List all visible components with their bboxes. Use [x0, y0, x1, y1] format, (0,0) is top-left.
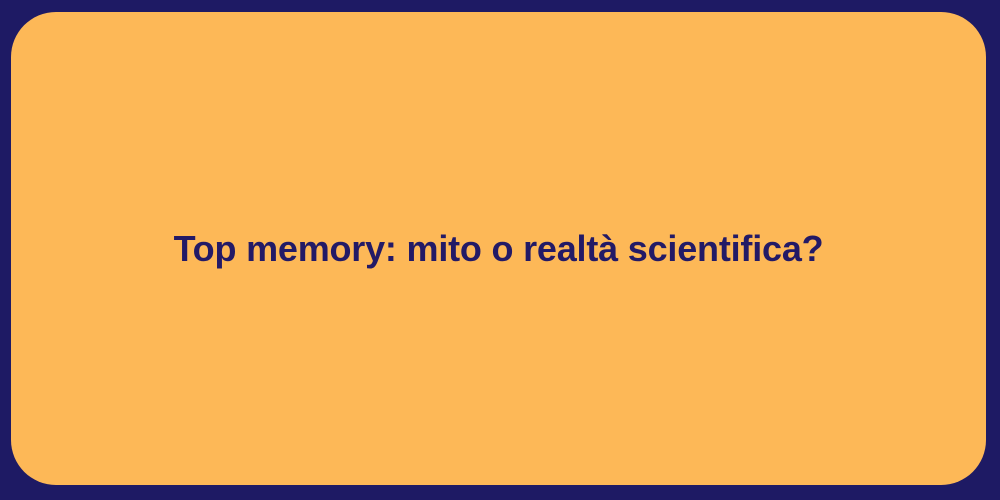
banner-headline: Top memory: mito o realtà scientifica? — [134, 228, 864, 269]
banner-card: Top memory: mito o realtà scientifica? — [11, 12, 986, 485]
banner-frame: Top memory: mito o realtà scientifica? — [0, 0, 1000, 500]
